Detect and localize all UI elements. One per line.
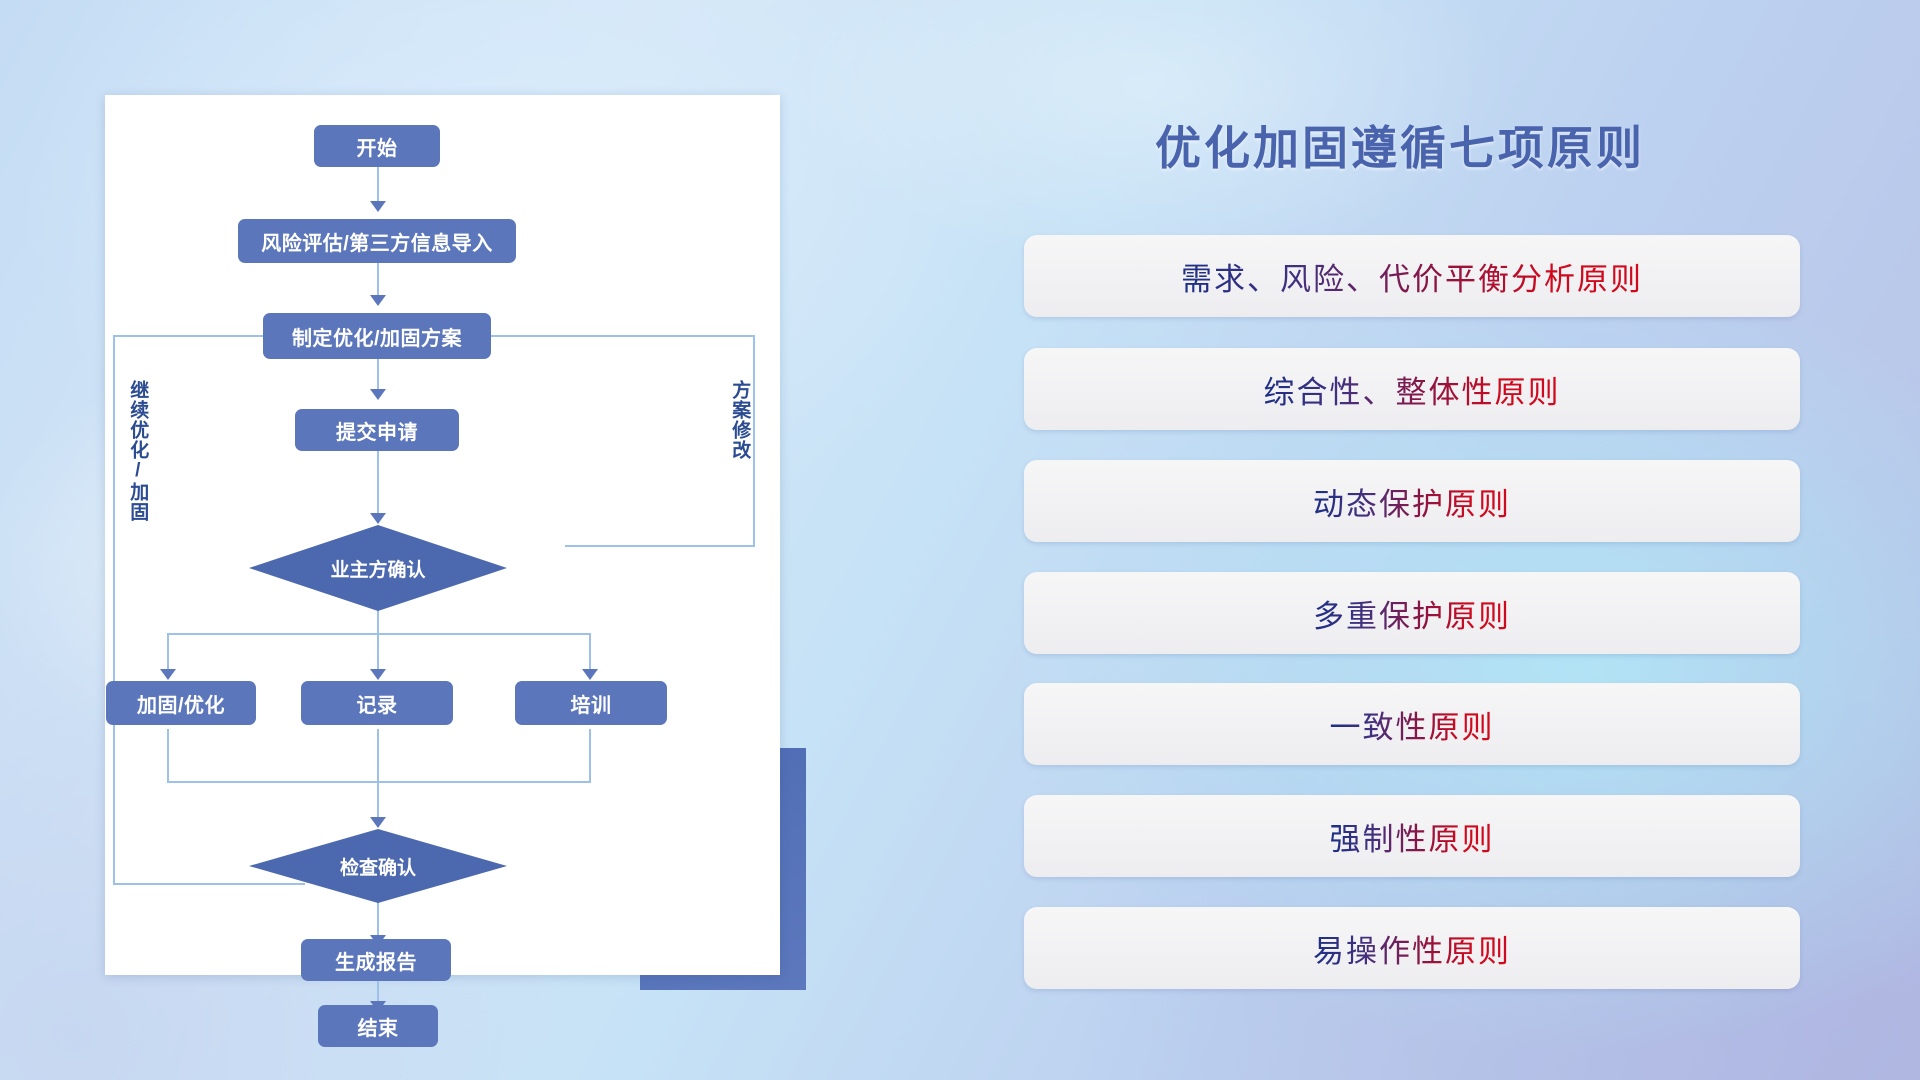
edge-branch-left — [167, 633, 169, 673]
principle-card-2[interactable]: 综合性、整体性原则 — [1024, 348, 1800, 430]
flow-node-owner-confirm[interactable]: 业主方确认 — [249, 525, 507, 611]
principle-card-2-wrap: 综合性、整体性原则 — [1024, 348, 1800, 430]
principle-card-7-wrap: 易操作性原则 — [1024, 907, 1800, 989]
flow-node-label: 检查确认 — [340, 853, 416, 880]
arrowhead-down — [370, 817, 386, 828]
flow-node-label: 结束 — [358, 1012, 399, 1041]
edge-branch-bus — [167, 633, 591, 635]
principle-card-5[interactable]: 一致性原则 — [1024, 683, 1800, 765]
flow-node-make-plan[interactable]: 制定优化/加固方案 — [263, 313, 491, 359]
flowchart-panel: 开始 风险评估/第三方信息导入 制定优化/加固方案 提交申请 业主方确认 加固/… — [105, 95, 780, 975]
page-title: 优化加固遵循七项原则 — [1155, 112, 1645, 178]
edge-left-loop-bottom — [113, 883, 305, 885]
principle-card-4-wrap: 多重保护原则 — [1024, 572, 1800, 654]
arrowhead-down — [370, 669, 386, 680]
edge-right-loop-bottom — [565, 545, 755, 547]
flow-node-record[interactable]: 记录 — [301, 681, 453, 725]
edge-right-loop-top — [483, 335, 755, 337]
principle-label: 强制性原则 — [1330, 814, 1495, 859]
principle-card-7[interactable]: 易操作性原则 — [1024, 907, 1800, 989]
flow-node-end[interactable]: 结束 — [318, 1005, 438, 1047]
principle-card-6[interactable]: 强制性原则 — [1024, 795, 1800, 877]
arrowhead-down — [370, 295, 386, 306]
flow-node-start[interactable]: 开始 — [314, 125, 440, 167]
edge-branch-mid — [377, 633, 379, 673]
flow-node-label: 加固/优化 — [137, 689, 225, 718]
principle-card-5-wrap: 一致性原则 — [1024, 683, 1800, 765]
edge-left-loop-top — [113, 335, 273, 337]
arrowhead-down — [582, 669, 598, 680]
principle-card-3[interactable]: 动态保护原则 — [1024, 460, 1800, 542]
principle-label: 易操作性原则 — [1313, 926, 1511, 971]
flow-node-check-confirm[interactable]: 检查确认 — [249, 829, 507, 903]
arrowhead-down — [370, 201, 386, 212]
principle-label: 多重保护原则 — [1313, 591, 1511, 636]
arrowhead-down — [370, 389, 386, 400]
flow-node-training[interactable]: 培训 — [515, 681, 667, 725]
principle-label: 需求、风险、代价平衡分析原则 — [1181, 254, 1643, 299]
flow-node-label: 培训 — [571, 689, 612, 718]
flow-node-label: 风险评估/第三方信息导入 — [261, 227, 493, 256]
flow-node-risk-assessment[interactable]: 风险评估/第三方信息导入 — [238, 219, 516, 263]
edge-label-continue-optimize: 继续优化/加固 — [127, 380, 148, 522]
edge-submit-owner — [377, 451, 379, 517]
arrowhead-down — [160, 669, 176, 680]
edge-train-merge — [589, 729, 591, 781]
principle-card-1[interactable]: 需求、风险、代价平衡分析原则 — [1024, 235, 1800, 317]
edge-plan-submit — [377, 357, 379, 393]
flow-node-label: 提交申请 — [336, 416, 418, 445]
flow-node-label: 记录 — [357, 689, 398, 718]
principle-label: 动态保护原则 — [1313, 479, 1511, 524]
edge-label-plan-revision: 方案修改 — [729, 380, 750, 460]
edge-risk-plan — [377, 261, 379, 299]
flow-node-submit-application[interactable]: 提交申请 — [295, 409, 459, 451]
edge-merge-bus — [167, 781, 591, 783]
flow-node-label: 业主方确认 — [330, 555, 425, 582]
flow-node-generate-report[interactable]: 生成报告 — [301, 939, 451, 981]
edge-right-loop-vertical — [753, 335, 755, 547]
flow-node-label: 制定优化/加固方案 — [292, 322, 462, 351]
arrowhead-down — [370, 513, 386, 524]
edge-start-risk — [377, 165, 379, 205]
edge-left-loop-vertical — [113, 335, 115, 885]
principle-card-4[interactable]: 多重保护原则 — [1024, 572, 1800, 654]
principle-card-6-wrap: 强制性原则 — [1024, 795, 1800, 877]
flow-node-reinforce-optimize[interactable]: 加固/优化 — [106, 681, 256, 725]
edge-record-check — [377, 729, 379, 821]
principle-label: 一致性原则 — [1330, 702, 1495, 747]
edge-branch-right — [589, 633, 591, 673]
principle-card-3-wrap: 动态保护原则 — [1024, 460, 1800, 542]
principle-label: 综合性、整体性原则 — [1264, 367, 1561, 412]
flow-node-label: 生成报告 — [335, 946, 417, 975]
flow-node-label: 开始 — [357, 132, 398, 161]
edge-reinforce-merge — [167, 729, 169, 781]
principle-card-1-wrap: 需求、风险、代价平衡分析原则 — [1024, 235, 1800, 317]
